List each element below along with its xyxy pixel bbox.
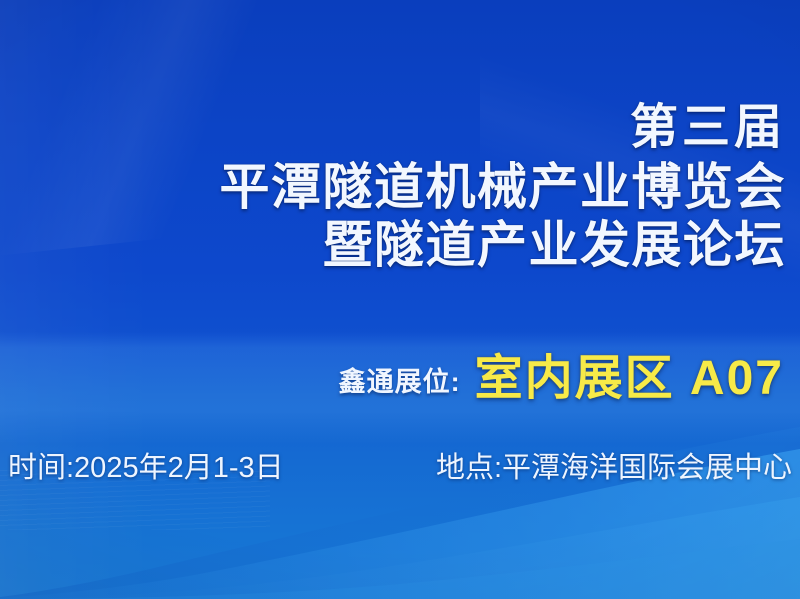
poster-content: 第三届 平潭隧道机械产业博览会 暨隧道产业发展论坛 鑫通展位: 室内展区 A07… xyxy=(0,0,800,599)
title-line-edition: 第三届 xyxy=(0,104,786,152)
booth-label: 鑫通展位: xyxy=(339,360,461,399)
title-line-sub: 暨隧道产业发展论坛 xyxy=(0,220,786,270)
event-venue: 地点:平潭海洋国际会展中心 xyxy=(436,444,792,486)
event-date: 时间:2025年2月1-3日 xyxy=(8,444,284,486)
expo-poster: 第三届 平潭隧道机械产业博览会 暨隧道产业发展论坛 鑫通展位: 室内展区 A07… xyxy=(0,0,800,599)
booth-info-row: 鑫通展位: 室内展区 A07 xyxy=(0,338,784,408)
title-line-main: 平潭隧道机械产业博览会 xyxy=(0,162,786,212)
event-meta-row: 时间:2025年2月1-3日 地点:平潭海洋国际会展中心 xyxy=(8,444,792,486)
event-title-block: 第三届 平潭隧道机械产业博览会 暨隧道产业发展论坛 xyxy=(0,104,786,270)
booth-number: 室内展区 A07 xyxy=(475,338,784,408)
